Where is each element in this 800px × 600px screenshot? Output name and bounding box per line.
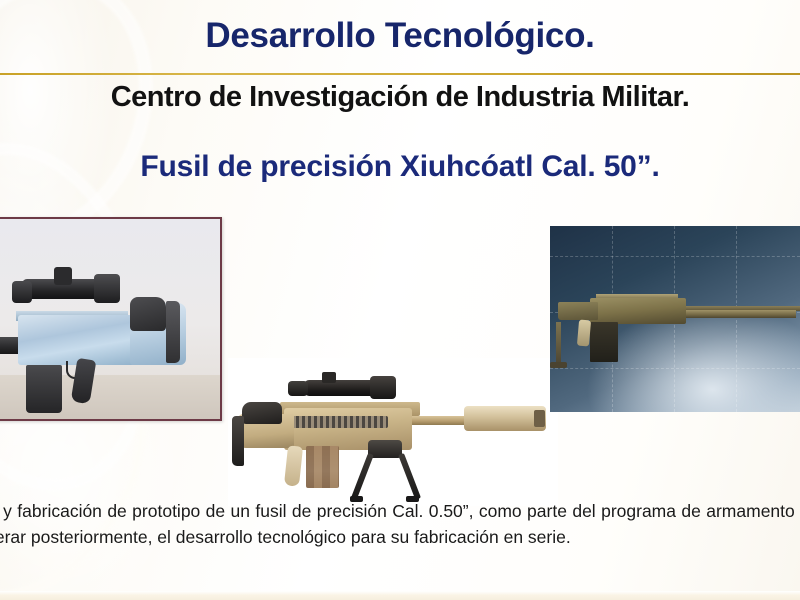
rifle-magazine xyxy=(26,365,62,413)
cad-grid-line xyxy=(550,368,800,369)
rifle-scope-eyepiece xyxy=(12,281,32,303)
gold-divider-rule xyxy=(0,73,800,75)
photo-rifle-center xyxy=(228,358,558,506)
rifle-scope-eyepiece xyxy=(288,381,308,396)
rifle-stock xyxy=(558,302,598,320)
rifle-pistol-grip xyxy=(284,445,303,486)
rifle-muzzle xyxy=(534,410,545,427)
rifle-magazine-detail xyxy=(306,446,339,488)
rifle-cheek-rest xyxy=(242,402,282,424)
rifle-cheek-rest xyxy=(130,297,166,331)
subtitle-product: Fusil de precisión Xiuhcóatl Cal. 50”. xyxy=(0,150,800,184)
rifle-scope-objective xyxy=(94,274,120,303)
cad-grid-line xyxy=(736,226,737,412)
page-title: Desarrollo Tecnológico. xyxy=(0,16,800,56)
rifle-barrel xyxy=(678,310,796,318)
rifle-scope-turret xyxy=(54,267,72,285)
rifle-butt-pad xyxy=(232,416,244,466)
rifle-bipod-leg xyxy=(398,453,421,500)
subtitle-institution: Centro de Investigación de Industria Mil… xyxy=(0,81,800,114)
rifle-magazine xyxy=(590,322,618,362)
rifle-bipod-leg xyxy=(351,453,374,500)
photo-cad-render-right xyxy=(550,226,800,412)
rifle-scope-turret xyxy=(322,372,336,383)
slide-root: Desarrollo Tecnológico. Centro de Invest… xyxy=(0,0,800,600)
rifle-butt-pad xyxy=(166,301,180,363)
body-paragraph-text: Desarrollo y fabricación de prototipo de… xyxy=(0,498,800,550)
rifle-rail xyxy=(290,416,388,428)
rifle-bipod-foot xyxy=(550,362,567,368)
cad-grid-line xyxy=(550,256,800,257)
rifle-scope-objective xyxy=(370,376,396,399)
body-paragraph: Desarrollo y fabricación de prototipo de… xyxy=(0,498,800,550)
rifle-bipod-leg xyxy=(556,322,561,366)
bottom-accent-band xyxy=(0,591,800,600)
photo-prototype-left xyxy=(0,217,222,421)
rifle-pistol-grip xyxy=(577,320,591,347)
rifle-receiver xyxy=(590,298,686,324)
